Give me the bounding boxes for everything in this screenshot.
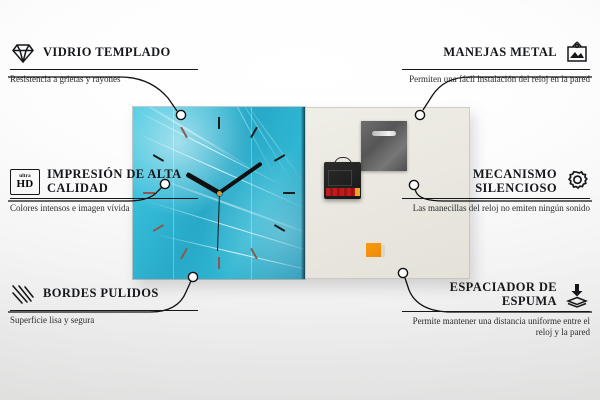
hour-tick: [153, 224, 164, 232]
diagonal-lines-icon: [10, 281, 36, 307]
mechanism-seam: [328, 170, 352, 186]
callout-title: IMPRESIÓN DE ALTA CALIDAD: [47, 168, 198, 195]
callout-rule: [10, 198, 198, 199]
callout-desc: Resistencia a grietas y rayones: [10, 74, 198, 85]
badge-main-text: HD: [16, 179, 33, 190]
callout-metal-handles: MANEJAS METAL Permiten una fácil instala…: [402, 40, 590, 85]
picture-hanger-icon: [564, 40, 590, 66]
callout-desc: Permite mantener una distancia uniforme …: [402, 316, 590, 338]
clock-mechanism: [324, 162, 361, 199]
callout-polished-edges: BORDES PULIDOS Superficie lisa y segura: [10, 281, 198, 326]
diamond-icon: [10, 40, 36, 66]
callout-rule: [402, 69, 590, 70]
foam-spacer-side: [381, 245, 385, 257]
hour-tick: [180, 248, 188, 259]
callout-rule: [10, 69, 198, 70]
infographic-canvas: VIDRIO TEMPLADO Resistencia a grietas y …: [0, 0, 600, 400]
callout-rule: [10, 310, 198, 311]
hour-tick: [218, 257, 220, 269]
gear-icon: [564, 169, 590, 195]
callout-rule: [402, 311, 590, 312]
callout-title: ESPACIADOR DE ESPUMA: [402, 281, 557, 308]
callout-hd-print: ultra HD IMPRESIÓN DE ALTA CALIDAD Color…: [10, 168, 198, 214]
arrow-down-layers-icon: [564, 282, 590, 308]
callout-title: MECANISMO SILENCIOSO: [402, 168, 557, 195]
mechanism-hanger-loop: [334, 157, 352, 165]
hour-tick: [218, 117, 220, 129]
hour-tick: [283, 192, 295, 194]
callout-desc: Las manecillas del reloj no emiten ningú…: [402, 203, 590, 214]
callout-title: BORDES PULIDOS: [43, 287, 159, 301]
battery-terminal: [355, 188, 360, 196]
callout-silent-mechanism: MECANISMO SILENCIOSO Las manecillas del …: [402, 168, 590, 214]
callout-title: VIDRIO TEMPLADO: [43, 46, 171, 60]
callout-tempered-glass: VIDRIO TEMPLADO Resistencia a grietas y …: [10, 40, 198, 85]
metal-hanger-plate: [361, 121, 407, 171]
clock-center-pin: [217, 191, 222, 196]
callout-foam-spacer: ESPACIADOR DE ESPUMA Permite mantener un…: [402, 281, 590, 338]
callout-title: MANEJAS METAL: [443, 46, 557, 60]
foam-spacer: [366, 243, 381, 257]
ultra-hd-badge-icon: ultra HD: [10, 169, 40, 195]
hanger-slot: [372, 131, 396, 136]
callout-desc: Permiten una fácil instalación del reloj…: [402, 74, 590, 85]
callout-rule: [402, 198, 590, 199]
callout-desc: Colores intensos e imagen vívida: [10, 203, 198, 214]
callout-desc: Superficie lisa y segura: [10, 315, 198, 326]
